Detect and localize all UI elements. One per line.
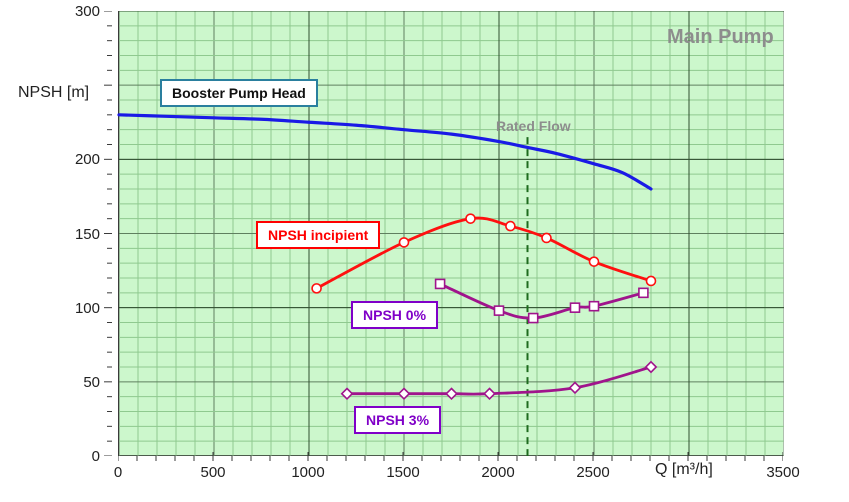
series-label-booster-pump-head: Booster Pump Head (160, 79, 318, 107)
series-label-npsh-0-percent: NPSH 0% (351, 301, 438, 329)
y-axis-tick-labels: 050100150200300 (62, 11, 112, 456)
x-axis-title: Q [m³/h] (655, 461, 713, 479)
series-label-npsh-incipient: NPSH incipient (256, 221, 380, 249)
x-axis-tick-label: 500 (200, 465, 225, 480)
series-label-npsh-3-percent: NPSH 3% (354, 406, 441, 434)
plot-area (118, 11, 783, 456)
x-axis-tick-label: 2500 (576, 465, 609, 480)
y-axis-tick-label: 150 (54, 227, 100, 242)
rated-flow-label: Rated Flow (496, 119, 571, 133)
chart-title: Main Pump (667, 27, 774, 47)
y-axis-tick-label: 200 (54, 152, 100, 167)
x-axis-tick-label: 1500 (386, 465, 419, 480)
x-axis-tick-label: 2000 (481, 465, 514, 480)
x-axis-ticks (118, 452, 783, 461)
y-axis-tick-label: 100 (54, 301, 100, 316)
y-axis-tick-label: 0 (54, 449, 100, 464)
chart-container: NPSH [m] 050100150200300 050010001500200… (0, 0, 849, 502)
y-axis-tick-label: 300 (54, 4, 100, 19)
data-series-layer (119, 11, 784, 456)
x-axis-tick-label: 0 (114, 465, 122, 480)
x-axis-tick-label: 3500 (766, 465, 799, 480)
y-axis-tick-label: 50 (54, 375, 100, 390)
x-axis-tick-label: 1000 (291, 465, 324, 480)
